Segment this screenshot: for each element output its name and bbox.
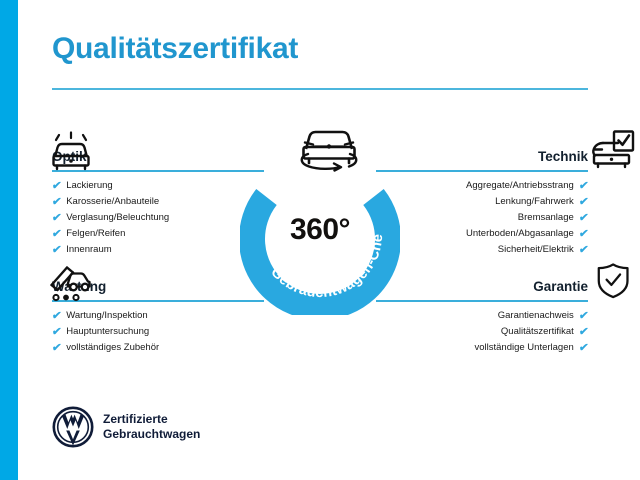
section-garantie-list: Garantienachweis✔ Qualitätszertifikat✔ v… — [376, 308, 588, 356]
check-icon: ✔ — [578, 226, 589, 242]
badge-360-gebrauchtwagen-check: Gebrauchtwagen-Check 360° — [240, 155, 400, 315]
badge-center-label: 360° — [240, 213, 400, 247]
list-item-label: Garantienachweis — [498, 308, 574, 324]
list-item: Lenkung/Fahrwerk✔ — [376, 194, 588, 210]
list-item: ✔Innenraum — [52, 242, 264, 258]
check-icon: ✔ — [578, 242, 589, 258]
list-item-label: Innenraum — [66, 242, 111, 258]
list-item-label: Lenkung/Fahrwerk — [495, 194, 574, 210]
check-icon: ✔ — [51, 226, 62, 242]
list-item-label: Karosserie/Anbauteile — [66, 194, 159, 210]
footer-line-1: Zertifizierte — [103, 412, 200, 427]
footer-line-2: Gebrauchtwagen — [103, 427, 200, 442]
section-garantie-title: Garantie — [533, 279, 588, 294]
list-item: Aggregate/Antriebsstrang✔ — [376, 178, 588, 194]
car-checkbox-icon — [590, 129, 636, 171]
section-technik-divider — [376, 170, 588, 172]
footer-brand-text: Zertifizierte Gebrauchtwagen — [103, 412, 200, 442]
section-garantie-header: Garantie — [376, 270, 588, 300]
title-divider — [52, 88, 588, 90]
section-optik-list: ✔Lackierung ✔Karosserie/Anbauteile ✔Verg… — [52, 178, 264, 258]
list-item-label: Unterboden/Abgasanlage — [466, 226, 574, 242]
list-item: ✔Lackierung — [52, 178, 264, 194]
page-title: Qualitätszertifikat — [52, 32, 298, 66]
car-lift-icon — [48, 261, 94, 303]
section-technik-title: Technik — [538, 149, 588, 164]
list-item: Bremsanlage✔ — [376, 210, 588, 226]
section-technik-list: Aggregate/Antriebsstrang✔ Lenkung/Fahrwe… — [376, 178, 588, 258]
check-icon: ✔ — [51, 178, 62, 194]
list-item-label: Lackierung — [66, 178, 112, 194]
car-front-rotate-icon — [296, 122, 362, 172]
check-icon: ✔ — [51, 194, 62, 210]
list-item-label: Qualitätszertifikat — [501, 324, 574, 340]
section-technik: Technik Aggregate/Antriebsstrang✔ Lenkun… — [376, 140, 588, 170]
list-item-label: Sicherheit/Elektrik — [498, 242, 574, 258]
check-icon: ✔ — [578, 210, 589, 226]
list-item: ✔vollständiges Zubehör — [52, 340, 264, 356]
check-icon: ✔ — [51, 242, 62, 258]
certificate-page: Qualitätszertifikat Optik ✔Lackierung ✔K… — [0, 0, 640, 480]
shield-check-icon — [594, 261, 640, 303]
section-wartung-list: ✔Wartung/Inspektion ✔Hauptuntersuchung ✔… — [52, 308, 264, 356]
list-item: ✔Verglasung/Beleuchtung — [52, 210, 264, 226]
list-item: ✔Hauptuntersuchung — [52, 324, 264, 340]
check-icon: ✔ — [51, 324, 62, 340]
list-item-label: Wartung/Inspektion — [66, 308, 148, 324]
check-icon: ✔ — [578, 194, 589, 210]
list-item: ✔Felgen/Reifen — [52, 226, 264, 242]
section-technik-header: Technik — [376, 140, 588, 170]
car-shine-icon — [48, 131, 94, 173]
check-icon: ✔ — [578, 178, 589, 194]
list-item-label: Hauptuntersuchung — [66, 324, 149, 340]
check-icon: ✔ — [578, 308, 589, 324]
list-item-label: Aggregate/Antriebsstrang — [466, 178, 574, 194]
list-item-label: Felgen/Reifen — [66, 226, 125, 242]
section-garantie: Garantie Garantienachweis✔ Qualitätszert… — [376, 270, 588, 300]
list-item-label: Verglasung/Beleuchtung — [66, 210, 169, 226]
check-icon: ✔ — [578, 324, 589, 340]
check-icon: ✔ — [51, 308, 62, 324]
left-accent-bar — [0, 0, 18, 480]
volkswagen-logo — [52, 406, 94, 448]
list-item: Unterboden/Abgasanlage✔ — [376, 226, 588, 242]
list-item: ✔Karosserie/Anbauteile — [52, 194, 264, 210]
check-icon: ✔ — [51, 210, 62, 226]
list-item: Sicherheit/Elektrik✔ — [376, 242, 588, 258]
list-item: Qualitätszertifikat✔ — [376, 324, 588, 340]
list-item: ✔Wartung/Inspektion — [52, 308, 264, 324]
list-item-label: vollständiges Zubehör — [66, 340, 159, 356]
list-item-label: vollständige Unterlagen — [474, 340, 573, 356]
check-icon: ✔ — [51, 340, 62, 356]
list-item: Garantienachweis✔ — [376, 308, 588, 324]
check-icon: ✔ — [578, 340, 589, 356]
list-item: vollständige Unterlagen✔ — [376, 340, 588, 356]
section-garantie-divider — [376, 300, 588, 302]
list-item-label: Bremsanlage — [518, 210, 574, 226]
